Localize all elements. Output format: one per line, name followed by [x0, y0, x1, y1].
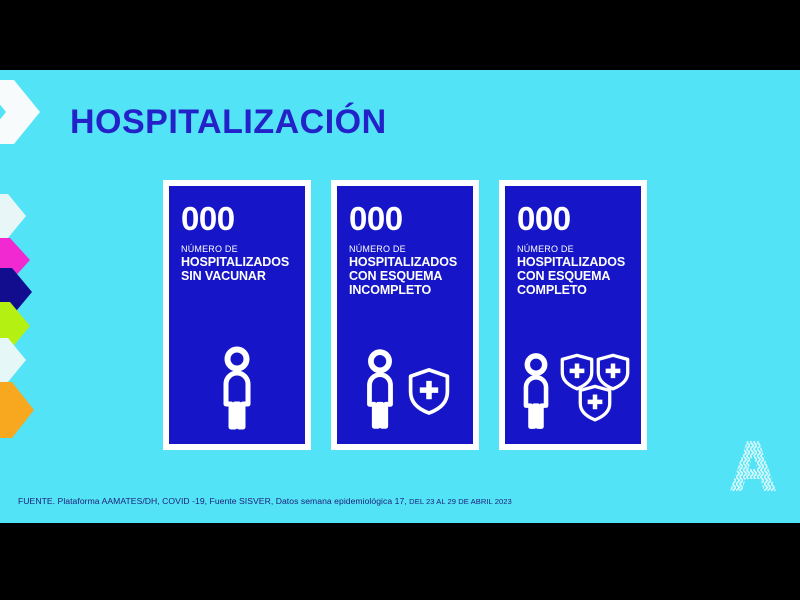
metric-label-line1: HOSPITALIZADOS [517, 255, 629, 269]
brand-a-logo [722, 435, 784, 497]
metric-label-line1: HOSPITALIZADOS [349, 255, 461, 269]
person-icon [214, 346, 260, 430]
letterbox-bottom [0, 523, 800, 600]
footer-source-note: FUENTE. Plataforma AAMATES/DH, COVID -19… [18, 496, 512, 506]
shield-cross-triple-icon [559, 350, 631, 426]
metric-kicker: NÚMERO DE [349, 244, 461, 254]
chevron-stack-icon [0, 70, 56, 523]
metric-value: 000 [181, 202, 293, 235]
metric-icon-area [337, 344, 473, 430]
person-icon [515, 352, 557, 430]
page-title: HOSPITALIZACIÓN [70, 103, 387, 142]
metric-label-line2: CON ESQUEMA [517, 269, 629, 283]
person-icon [358, 348, 402, 430]
metric-label-line3: COMPLETO [517, 283, 629, 297]
letterbox-top [0, 0, 800, 70]
metric-label-line3: INCOMPLETO [349, 283, 461, 297]
metric-label-line2: CON ESQUEMA [349, 269, 461, 283]
metric-icon-area [169, 344, 305, 430]
footer-source-date: DEL 23 AL 29 DE ABRIL 2023 [409, 497, 512, 506]
shield-cross-icon-2 [598, 355, 627, 389]
metric-kicker: NÚMERO DE [517, 244, 629, 254]
metric-card-body: 000 NÚMERO DE HOSPITALIZADOS CON ESQUEMA… [505, 186, 641, 444]
shield-cross-icon-3 [580, 386, 609, 420]
metric-value: 000 [517, 202, 629, 235]
metric-kicker: NÚMERO DE [181, 244, 293, 254]
metric-label-line1: HOSPITALIZADOS [181, 255, 293, 269]
metric-icon-area [505, 344, 641, 430]
footer-source-main: FUENTE. Plataforma AAMATES/DH, COVID -19… [18, 496, 409, 506]
icon-row [505, 350, 641, 430]
left-chevron-decoration [0, 70, 56, 523]
metric-card-unvaccinated[interactable]: 000 NÚMERO DE HOSPITALIZADOS SIN VACUNAR [163, 180, 311, 450]
shield-cross-icon [406, 366, 452, 416]
metric-card-incomplete-scheme[interactable]: 000 NÚMERO DE HOSPITALIZADOS CON ESQUEMA… [331, 180, 479, 450]
metric-label-line2: SIN VACUNAR [181, 269, 293, 283]
metric-card-group: 000 NÚMERO DE HOSPITALIZADOS SIN VACUNAR [163, 180, 647, 450]
slide-root: HOSPITALIZACIÓN 000 NÚMERO DE HOSPITALIZ… [0, 0, 800, 600]
shield-cross-icon-1 [562, 355, 591, 389]
metric-card-body: 000 NÚMERO DE HOSPITALIZADOS CON ESQUEMA… [337, 186, 473, 444]
metric-card-body: 000 NÚMERO DE HOSPITALIZADOS SIN VACUNAR [169, 186, 305, 444]
metric-value: 000 [349, 202, 461, 235]
icon-row [337, 348, 473, 430]
icon-row [169, 346, 305, 430]
slide-canvas: HOSPITALIZACIÓN 000 NÚMERO DE HOSPITALIZ… [0, 70, 800, 523]
metric-card-complete-scheme[interactable]: 000 NÚMERO DE HOSPITALIZADOS CON ESQUEMA… [499, 180, 647, 450]
